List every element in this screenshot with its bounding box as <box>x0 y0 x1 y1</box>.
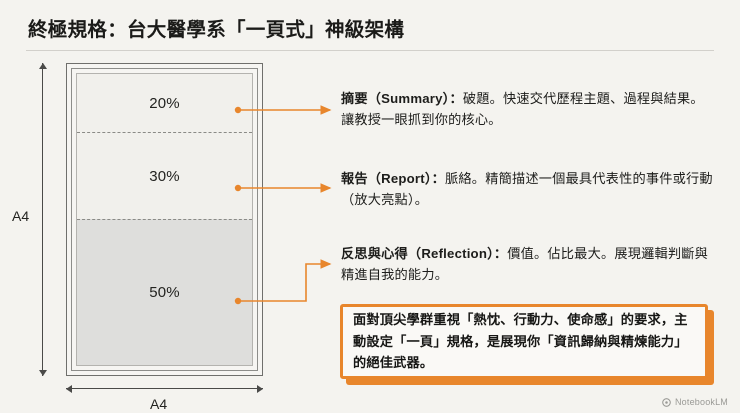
section-summary-percent: 20% <box>149 95 180 112</box>
a4-page-outer-border: 20% 30% 50% <box>66 63 263 376</box>
callout-box: 面對頂尖學群重視「熱忱、行動力、使命感」的要求，主動設定「一頁」規格，是展現你「… <box>340 304 708 379</box>
a4-page-proportion-diagram: A4 20% 30% 50% A4 <box>0 55 330 410</box>
section-report-percent: 30% <box>149 168 180 185</box>
horizontal-dimension-arrow <box>66 388 263 389</box>
note-summary: 摘要（Summary）：破題。快速交代歷程主題、過程與結果。讓教授一眼抓到你的核… <box>341 88 713 131</box>
note-summary-heading: 摘要（Summary）： <box>341 91 463 106</box>
a4-page-middle-border: 20% 30% 50% <box>71 68 258 371</box>
a4-page-inner-border: 20% 30% 50% <box>76 73 253 366</box>
note-report: 報告（Report）：脈絡。精簡描述一個最具代表性的事件或行動（放大亮點）。 <box>341 168 713 211</box>
horizontal-dimension-label: A4 <box>150 396 167 412</box>
notebooklm-watermark-label: NotebookLM <box>675 397 728 407</box>
section-reflection: 50% <box>77 219 252 365</box>
section-report: 30% <box>77 132 252 219</box>
note-reflection-heading: 反思與心得（Reflection）： <box>341 246 507 261</box>
title-divider <box>26 50 714 51</box>
note-reflection: 反思與心得（Reflection）：價值。佔比最大。展現邏輯判斷與精進自我的能力… <box>341 243 713 286</box>
vertical-dimension-label: A4 <box>12 208 29 224</box>
note-report-heading: 報告（Report）： <box>341 171 445 186</box>
vertical-dimension-arrow <box>42 63 43 376</box>
callout-text: 面對頂尖學群重視「熱忱、行動力、使命感」的要求，主動設定「一頁」規格，是展現你「… <box>343 309 705 373</box>
section-reflection-percent: 50% <box>149 284 180 301</box>
page-title: 終極規格：台大醫學系「一頁式」神級架構 <box>28 13 404 42</box>
notebooklm-watermark: NotebookLM <box>662 397 728 407</box>
notebooklm-logo-icon <box>662 398 671 407</box>
section-summary: 20% <box>77 74 252 132</box>
